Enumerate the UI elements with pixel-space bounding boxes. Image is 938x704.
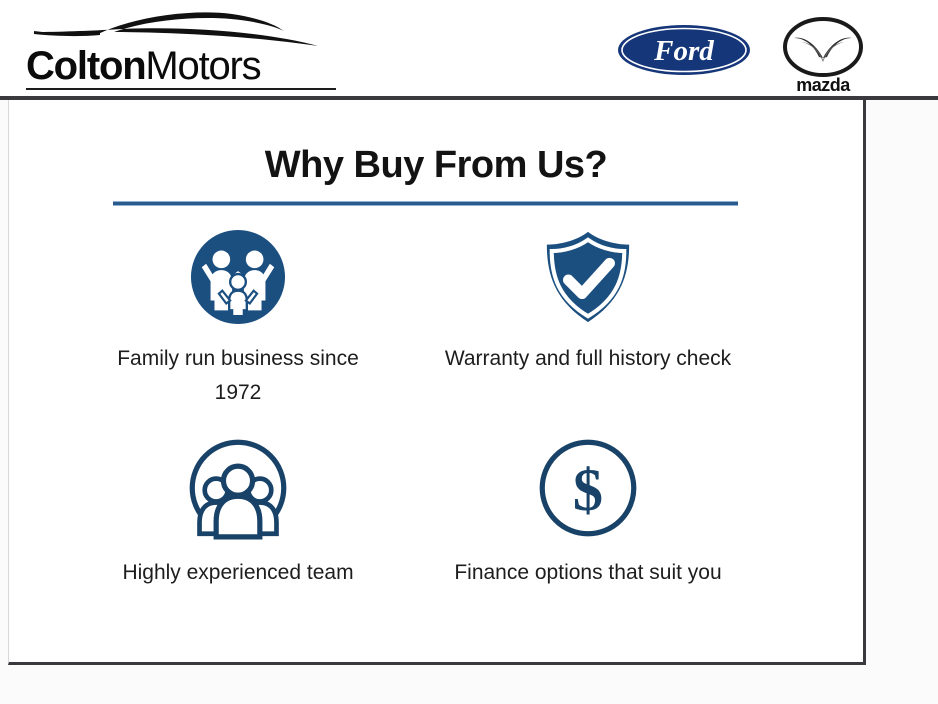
svg-text:$: $ [573, 457, 603, 524]
content-panel: Why Buy From Us? [8, 100, 866, 665]
brand-underline [26, 88, 336, 90]
dollar-circle-icon: $ [536, 436, 640, 540]
colton-motors-logo[interactable]: ColtonMotors [26, 8, 346, 92]
feature-item-finance[interactable]: $ Finance options that suit you [413, 436, 763, 636]
feature-label: Family run business since 1972 [93, 342, 383, 410]
slide-canvas: ColtonMotors Ford mazda Why Buy From Us? [0, 0, 938, 704]
feature-item-team[interactable]: Highly experienced team [63, 436, 413, 636]
svg-text:Ford: Ford [653, 35, 714, 67]
mazda-logo[interactable]: mazda [781, 16, 865, 96]
feature-item-family[interactable]: Family run business since 1972 [63, 228, 413, 428]
shield-check-icon [539, 228, 637, 326]
page-header: ColtonMotors Ford mazda [0, 0, 938, 98]
svg-text:mazda: mazda [796, 75, 851, 95]
feature-item-warranty[interactable]: Warranty and full history check [413, 228, 763, 428]
feature-grid: Family run business since 1972 Warranty … [63, 228, 763, 636]
brand-wordmark: ColtonMotors [26, 42, 346, 90]
team-icon [186, 436, 290, 540]
page-title: Why Buy From Us? [9, 144, 863, 187]
brand-name-bold: Colton [26, 44, 145, 88]
feature-label: Finance options that suit you [443, 556, 733, 590]
feature-label: Warranty and full history check [443, 342, 733, 376]
brand-name-light: Motors [145, 44, 260, 88]
family-icon [189, 228, 287, 326]
feature-label: Highly experienced team [93, 556, 383, 590]
ford-logo[interactable]: Ford [617, 24, 751, 76]
title-divider [113, 201, 738, 206]
